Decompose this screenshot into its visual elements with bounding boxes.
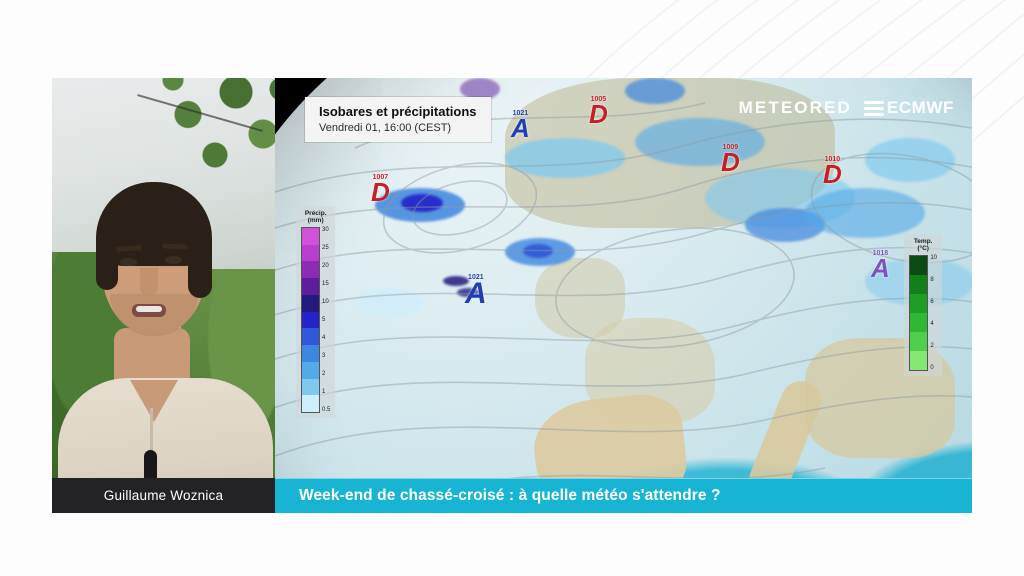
precip-tick-labels: 30 25 20 15 10 5 4 3 2 1 0.5 [322, 227, 330, 413]
presenter-teeth [136, 306, 162, 312]
precip-color-bar [301, 227, 320, 413]
map-title-box: Isobares et précipitations Vendredi 01, … [305, 97, 491, 142]
presenter-video[interactable]: Guillaume Woznica [52, 78, 275, 513]
globe [275, 78, 972, 513]
precip-legend-title: Précip. [301, 210, 330, 217]
meteored-logo: METEORED [739, 98, 852, 118]
temp-tick-labels: 10 8 6 4 2 0 [930, 255, 937, 371]
headline-text: Week-end de chassé-croisé : à quelle mét… [299, 487, 721, 505]
temp-color-bar [909, 255, 928, 371]
precipitation-legend: Précip. (mm) 30 25 20 [296, 206, 335, 418]
globe-limb-shading [275, 78, 972, 513]
presenter-eye-right [165, 256, 182, 264]
map-timestamp: Vendredi 01, 16:00 (CEST) [319, 122, 477, 134]
ecmwf-mark-icon [864, 101, 884, 116]
temp-legend-unit: (°C) [909, 245, 937, 252]
presenter-hair-left [96, 228, 118, 290]
presenter-name: Guillaume Woznica [104, 488, 223, 503]
headline-banner: Week-end de chassé-croisé : à quelle mét… [275, 478, 972, 513]
presenter-nameplate: Guillaume Woznica [52, 478, 275, 513]
presenter-hair-right [188, 228, 212, 298]
weather-map[interactable]: 1007 D 1021 A 1005 D 1009 D 1010 D 1021 … [275, 78, 972, 513]
ecmwf-logo: ECMWF [864, 98, 954, 118]
temperature-legend: Temp. (°C) 10 8 6 4 2 0 [904, 234, 942, 376]
video-player[interactable]: Guillaume Woznica [52, 78, 972, 513]
page-root: Guillaume Woznica [0, 0, 1024, 576]
presenter-nose [140, 268, 158, 296]
precip-legend-unit: (mm) [301, 217, 330, 224]
ecmwf-label: ECMWF [887, 98, 954, 118]
brand-bar: METEORED ECMWF [739, 98, 954, 118]
map-title: Isobares et précipitations [319, 104, 477, 119]
presenter-eye-left [120, 258, 137, 266]
